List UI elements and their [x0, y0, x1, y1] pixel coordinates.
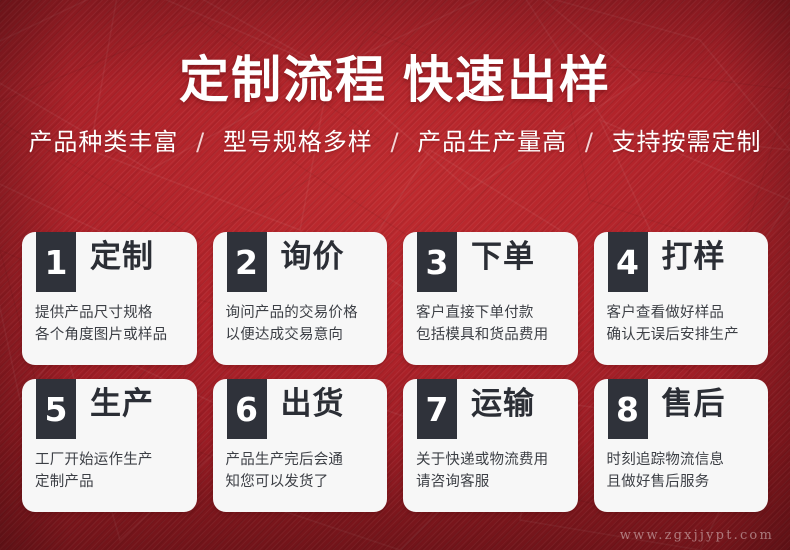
step-description-line-1: 客户查看做好样品	[607, 302, 769, 324]
step-number-badge: 1	[36, 232, 76, 292]
step-description-line-2: 各个角度图片或样品	[35, 324, 197, 346]
watermark-url: www.zgxjjypt.com	[620, 528, 774, 543]
step-card-5: 5 生产 工厂开始运作生产 定制产品	[22, 379, 197, 512]
step-description-line-1: 产品生产完后会通	[226, 449, 388, 471]
step-card-2: 2 询价 询问产品的交易价格 以便达成交易意向	[213, 232, 388, 365]
step-number-badge: 2	[227, 232, 267, 292]
step-number: 5	[45, 393, 68, 426]
step-description: 关于快递或物流费用 请咨询客服	[416, 449, 578, 494]
step-description-line-2: 请咨询客服	[416, 471, 578, 493]
step-description: 客户直接下单付款 包括模具和货品费用	[416, 302, 578, 347]
step-description-line-1: 提供产品尺寸规格	[35, 302, 197, 324]
step-card-6: 6 出货 产品生产完后会通 知您可以发货了	[213, 379, 388, 512]
step-description-line-2: 以便达成交易意向	[226, 324, 388, 346]
step-number: 7	[426, 393, 449, 426]
subtitle-item-1: 产品种类丰富	[28, 128, 178, 156]
subtitle-separator: /	[381, 128, 408, 157]
subtitle-separator: /	[187, 128, 214, 157]
step-number-badge: 6	[227, 379, 267, 439]
step-description: 时刻追踪物流信息 且做好售后服务	[607, 449, 769, 494]
step-number-badge: 4	[608, 232, 648, 292]
step-number: 6	[235, 393, 258, 426]
step-header: 3 下单	[403, 232, 578, 300]
step-title: 生产	[90, 387, 154, 421]
step-header: 1 定制	[22, 232, 197, 300]
step-description-line-1: 客户直接下单付款	[416, 302, 578, 324]
step-title: 询价	[281, 240, 345, 274]
step-number: 4	[616, 246, 639, 279]
step-description: 产品生产完后会通 知您可以发货了	[226, 449, 388, 494]
step-description-line-1: 时刻追踪物流信息	[607, 449, 769, 471]
step-title: 下单	[471, 240, 535, 274]
step-title: 定制	[90, 240, 154, 274]
process-steps-grid: 1 定制 提供产品尺寸规格 各个角度图片或样品 2 询价 询问产品的交易价格 以…	[22, 232, 768, 512]
step-description: 询问产品的交易价格 以便达成交易意向	[226, 302, 388, 347]
step-description-line-1: 关于快递或物流费用	[416, 449, 578, 471]
subtitle-item-2: 型号规格多样	[223, 128, 373, 156]
step-card-1: 1 定制 提供产品尺寸规格 各个角度图片或样品	[22, 232, 197, 365]
step-description-line-1: 询问产品的交易价格	[226, 302, 388, 324]
step-header: 5 生产	[22, 379, 197, 447]
banner-header: 定制流程快速出样 产品种类丰富 / 型号规格多样 / 产品生产量高 / 支持按需…	[0, 54, 790, 157]
step-title: 售后	[662, 387, 726, 421]
step-description-line-2: 包括模具和货品费用	[416, 324, 578, 346]
subtitle-item-3: 产品生产量高	[417, 128, 567, 156]
step-description-line-2: 且做好售后服务	[607, 471, 769, 493]
banner-subtitle: 产品种类丰富 / 型号规格多样 / 产品生产量高 / 支持按需定制	[0, 128, 790, 157]
banner-title: 定制流程快速出样	[0, 54, 790, 106]
step-description-line-1: 工厂开始运作生产	[35, 449, 197, 471]
step-card-3: 3 下单 客户直接下单付款 包括模具和货品费用	[403, 232, 578, 365]
step-header: 4 打样	[594, 232, 769, 300]
step-title: 打样	[662, 240, 726, 274]
step-number: 3	[426, 246, 449, 279]
step-description-line-2: 定制产品	[35, 471, 197, 493]
step-title: 运输	[471, 387, 535, 421]
promo-banner: 定制流程快速出样 产品种类丰富 / 型号规格多样 / 产品生产量高 / 支持按需…	[0, 0, 790, 550]
banner-title-part1: 定制流程	[179, 51, 387, 109]
step-number-badge: 3	[417, 232, 457, 292]
step-number: 2	[235, 246, 258, 279]
step-title: 出货	[281, 387, 345, 421]
subtitle-separator: /	[576, 128, 603, 157]
step-description-line-2: 确认无误后安排生产	[607, 324, 769, 346]
step-number-badge: 8	[608, 379, 648, 439]
step-header: 8 售后	[594, 379, 769, 447]
step-number-badge: 5	[36, 379, 76, 439]
banner-title-part2: 快速出样	[403, 51, 611, 109]
step-description: 工厂开始运作生产 定制产品	[35, 449, 197, 494]
step-header: 7 运输	[403, 379, 578, 447]
step-description-line-2: 知您可以发货了	[226, 471, 388, 493]
subtitle-item-4: 支持按需定制	[612, 128, 762, 156]
step-number: 8	[616, 393, 639, 426]
step-description: 客户查看做好样品 确认无误后安排生产	[607, 302, 769, 347]
step-card-8: 8 售后 时刻追踪物流信息 且做好售后服务	[594, 379, 769, 512]
step-number: 1	[45, 246, 68, 279]
step-card-7: 7 运输 关于快递或物流费用 请咨询客服	[403, 379, 578, 512]
step-header: 6 出货	[213, 379, 388, 447]
step-description: 提供产品尺寸规格 各个角度图片或样品	[35, 302, 197, 347]
step-card-4: 4 打样 客户查看做好样品 确认无误后安排生产	[594, 232, 769, 365]
step-number-badge: 7	[417, 379, 457, 439]
step-header: 2 询价	[213, 232, 388, 300]
